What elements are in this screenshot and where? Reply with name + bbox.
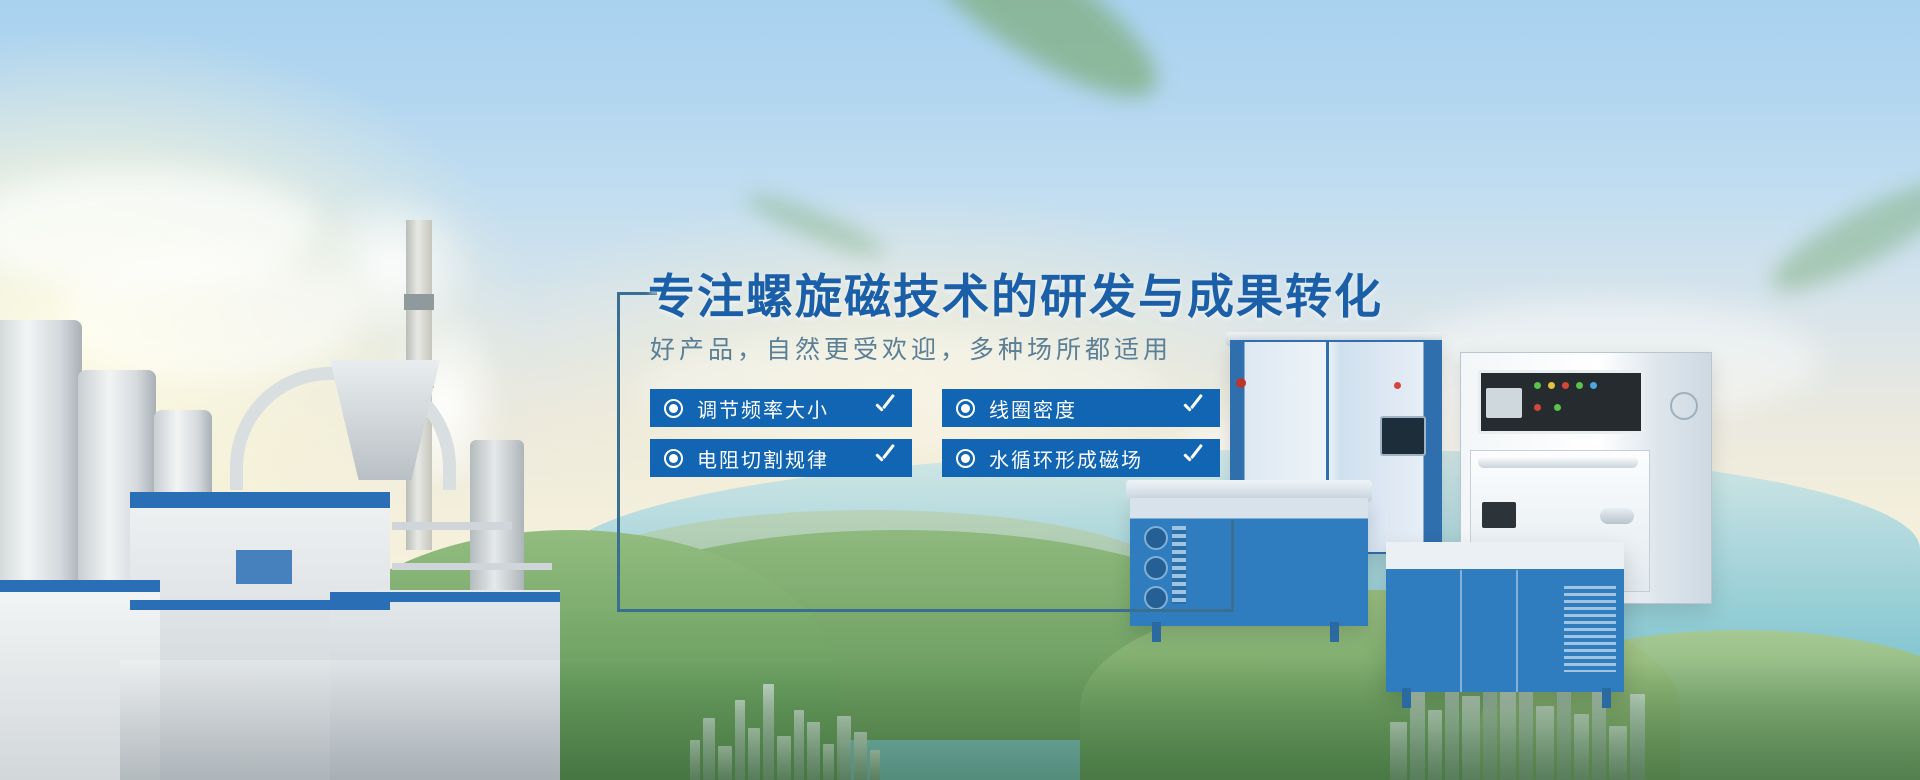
building-trim	[0, 580, 160, 592]
check-icon	[872, 445, 898, 471]
pipe	[392, 563, 552, 570]
panel-seam	[1460, 570, 1462, 692]
feature-badge-label: 水循环形成磁场	[989, 444, 1172, 473]
feature-badge-list: 调节频率大小 线圈密度 电阻切割规律 水循环形成磁场	[650, 389, 1220, 477]
feature-badge-label: 电阻切割规律	[697, 444, 864, 473]
indicator-led	[1394, 382, 1401, 389]
check-icon	[1180, 445, 1206, 471]
exhaust-grill	[1564, 586, 1616, 672]
feature-badge-label: 线圈密度	[989, 394, 1172, 423]
product-machines	[1130, 330, 1870, 730]
feature-badge[interactable]: 电阻切割规律	[650, 439, 912, 477]
gauge-dial	[1144, 556, 1168, 580]
gantry-platform	[120, 660, 560, 780]
indicator-led	[1236, 378, 1246, 388]
machine-leg	[1602, 688, 1611, 708]
oven-window	[1482, 502, 1516, 528]
radio-dot-icon	[664, 399, 683, 418]
pipe	[392, 522, 512, 530]
indicator-led	[1534, 404, 1541, 411]
industrial-plant	[0, 140, 620, 780]
gauge-dial	[1144, 586, 1168, 610]
oven-display	[1486, 388, 1522, 418]
indicator-led	[1562, 382, 1569, 389]
feature-badge[interactable]: 线圈密度	[942, 389, 1220, 427]
building-trim	[330, 592, 560, 602]
machine-leg	[1402, 688, 1411, 708]
bracket-bottom-arm	[617, 609, 1234, 612]
feature-badge-label: 调节频率大小	[697, 394, 864, 423]
hero-banner: 专注螺旋磁技术的研发与成果转化 好产品，自然更受欢迎，多种场所都适用 调节频率大…	[0, 0, 1920, 780]
bracket-left-arm	[617, 292, 620, 612]
machine-leg	[1330, 622, 1339, 642]
gauge-dial	[1144, 526, 1168, 550]
radio-dot-icon	[956, 449, 975, 468]
radio-dot-icon	[956, 399, 975, 418]
cabinet-display	[1380, 416, 1426, 456]
page-title: 专注螺旋磁技术的研发与成果转化	[648, 258, 1383, 327]
page-subtitle: 好产品，自然更受欢迎，多种场所都适用	[650, 330, 1172, 366]
chiller-vent	[1172, 526, 1186, 604]
oven-latch	[1600, 508, 1634, 524]
chimney-band	[404, 294, 434, 310]
oven-handle	[1478, 456, 1638, 468]
indicator-led	[1576, 382, 1583, 389]
window	[236, 550, 292, 584]
indicator-led	[1554, 404, 1561, 411]
indicator-led	[1590, 382, 1597, 389]
machine-leg	[1152, 622, 1161, 642]
feature-badge[interactable]: 调节频率大小	[650, 389, 912, 427]
check-icon	[1180, 395, 1206, 421]
indicator-led	[1534, 382, 1541, 389]
radio-dot-icon	[664, 449, 683, 468]
indicator-led	[1548, 382, 1555, 389]
bracket-right-arm	[1231, 520, 1234, 612]
check-icon	[872, 395, 898, 421]
feature-badge[interactable]: 水循环形成磁场	[942, 439, 1220, 477]
panel-seam	[1516, 570, 1518, 692]
fan-vent-icon	[1670, 392, 1698, 420]
building-trim	[130, 492, 390, 508]
